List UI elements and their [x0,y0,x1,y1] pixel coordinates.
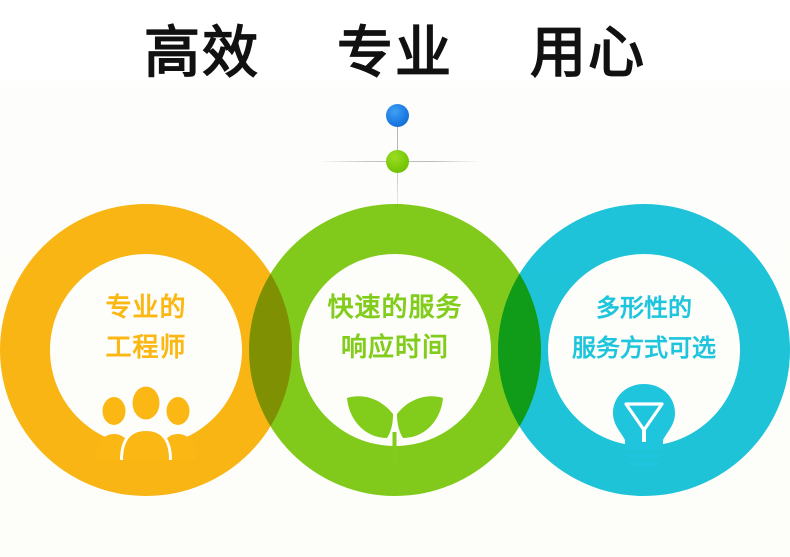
title-segment-1: 高效 [144,26,260,82]
page-title: 高效 专业 用心 [0,26,790,82]
title-segment-2: 专业 [337,26,453,82]
infographic-canvas: 高效 专业 用心 专业的 工程师 [0,0,790,557]
blue-dot-icon [386,104,409,127]
green-dot-icon [386,150,409,173]
ring-service-modes[interactable] [498,204,790,496]
title-segment-3: 用心 [530,26,646,82]
